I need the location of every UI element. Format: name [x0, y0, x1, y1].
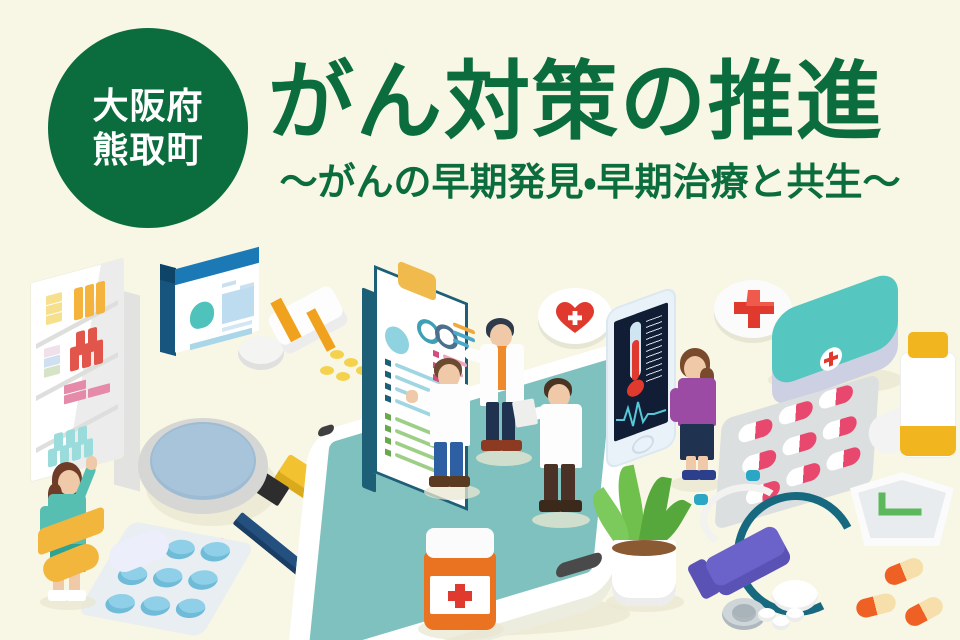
- banner-root: 大阪府 熊取町 がん対策の推進 〜がんの早期発見・早期治療と共生〜: [0, 0, 960, 640]
- medicine-cross-icon: [430, 576, 490, 614]
- check-icon: [878, 492, 922, 520]
- thermometer-icon: [630, 320, 642, 398]
- page-title: がん対策の推進: [268, 52, 908, 152]
- red-cross-icon: [728, 286, 780, 332]
- badge-line-prefecture: 大阪府: [92, 84, 203, 128]
- heart-plus-icon: [554, 300, 596, 334]
- badge-line-town: 熊取町: [92, 128, 203, 172]
- doctor-figure-right: [528, 378, 602, 530]
- heartbeat-line-icon: [614, 398, 668, 432]
- prefecture-town-badge: 大阪府 熊取町: [48, 28, 248, 228]
- illustration-stage: [0, 240, 960, 640]
- page-subtitle: 〜がんの早期発見・早期治療と共生〜: [268, 160, 912, 206]
